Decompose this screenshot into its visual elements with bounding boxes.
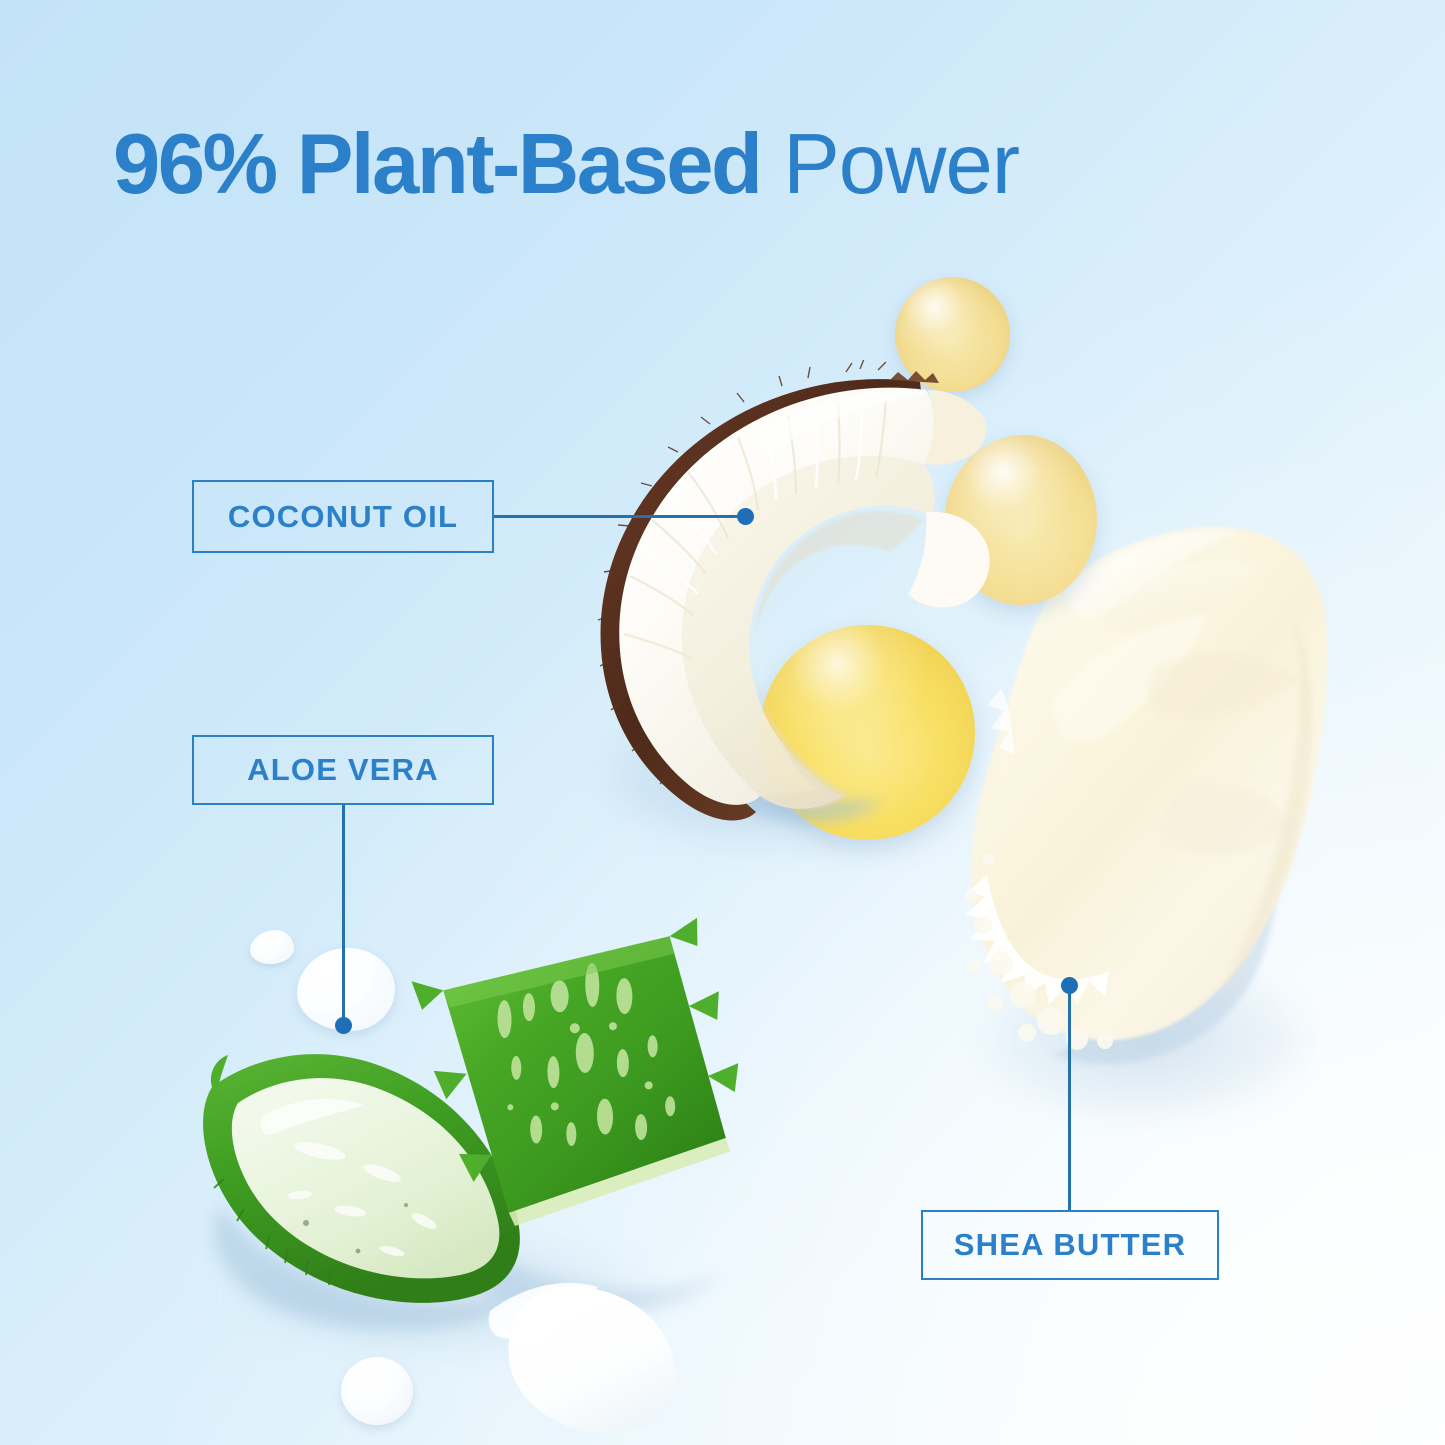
coconut-oil-leader-line (494, 515, 746, 518)
shea-butter-leader-line (1068, 985, 1071, 1211)
page-title: 96% Plant-Based Power (113, 122, 1019, 207)
shea-butter-leader-dot (1061, 977, 1078, 994)
gel-droplet-small-lower (341, 1357, 413, 1425)
coconut-oil-leader-dot (737, 508, 754, 525)
callout-aloe-vera-label: ALOE VERA (247, 752, 439, 788)
headline-bold-part: 96% Plant-Based (113, 117, 760, 212)
aloe-vera-leader-dot (335, 1017, 352, 1034)
aloe-vera-leader-line (342, 805, 345, 1027)
callout-shea-butter-label: SHEA BUTTER (954, 1227, 1187, 1263)
aloe-vera-group (160, 905, 780, 1435)
callout-shea-butter[interactable]: SHEA BUTTER (921, 1210, 1219, 1280)
callout-aloe-vera[interactable]: ALOE VERA (192, 735, 494, 805)
coconut-crescent (560, 360, 1040, 830)
headline-light-part: Power (760, 117, 1019, 212)
callout-coconut-oil[interactable]: COCONUT OIL (192, 480, 494, 553)
callout-coconut-oil-label: COCONUT OIL (228, 499, 458, 535)
promo-graphic: 96% Plant-Based Power (0, 0, 1445, 1445)
